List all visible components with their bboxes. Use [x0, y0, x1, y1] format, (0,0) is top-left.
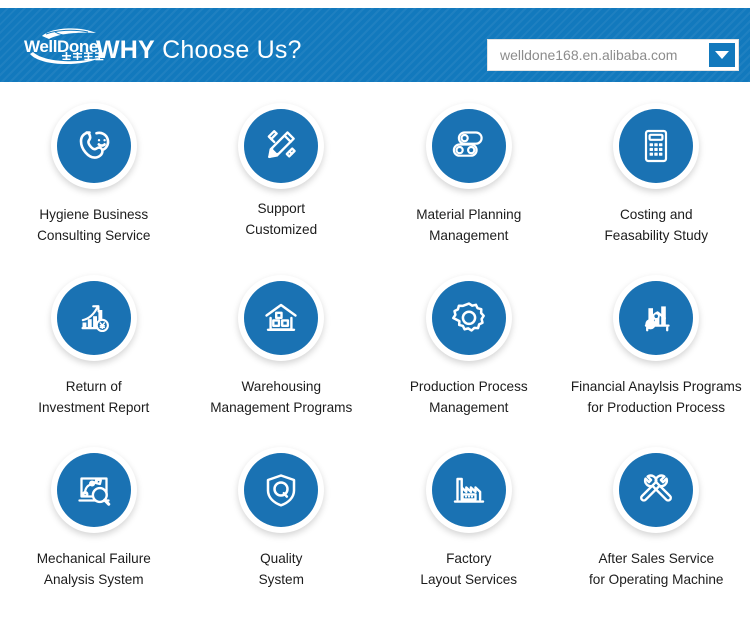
shield-q-icon: [259, 468, 303, 512]
service-label-line2: Investment Report: [38, 397, 149, 418]
why-choose-us-banner: WellDone WHY Choose Us? welldone168.en.a…: [0, 0, 750, 624]
service-label-line2: for Production Process: [571, 397, 742, 418]
service-label-line1: Return of: [66, 379, 122, 394]
service-label: Mechanical Failure Analysis System: [37, 548, 151, 590]
service-label-line2: Customized: [245, 219, 317, 240]
service-label-line1: Support: [257, 201, 305, 216]
service-label-line1: Financial Anaylsis Programs: [571, 379, 742, 394]
service-label: Hygiene Business Consulting Service: [37, 204, 150, 246]
service-label-line1: Hygiene Business: [39, 207, 148, 222]
robot-arm-magnifier-icon: [72, 468, 116, 512]
wrench-screwdriver-icon: [634, 468, 678, 512]
service-icon-badge: [51, 275, 137, 361]
service-item[interactable]: Costing and Feasability Study: [563, 90, 750, 262]
service-item[interactable]: After Sales Service for Operating Machin…: [563, 434, 750, 606]
service-label: Financial Anaylsis Programs for Producti…: [571, 376, 742, 418]
service-item[interactable]: Factory Layout Services: [375, 434, 563, 606]
header-bar: WellDone WHY Choose Us? welldone168.en.a…: [0, 8, 750, 82]
service-label: Support Customized: [245, 198, 317, 240]
service-item[interactable]: Warehousing Management Programs: [188, 262, 376, 434]
calculator-icon: [634, 124, 678, 168]
service-label-line1: Material Planning: [416, 207, 521, 222]
service-label-line1: After Sales Service: [598, 551, 714, 566]
service-icon-badge: [613, 103, 699, 189]
service-icon-badge: [51, 447, 137, 533]
service-label-line2: Management Programs: [210, 397, 352, 418]
services-grid: Hygiene Business Consulting Service: [0, 90, 750, 606]
service-label-line1: Production Process: [410, 379, 528, 394]
warehouse-boxes-icon: [259, 296, 303, 340]
service-item[interactable]: Quality System: [188, 434, 376, 606]
service-icon-badge: [426, 447, 512, 533]
service-label-line1: Factory: [446, 551, 491, 566]
service-label-line2: Analysis System: [37, 569, 151, 590]
chart-magnifier-icon: [634, 296, 678, 340]
service-label-line2: Feasability Study: [604, 225, 708, 246]
service-label: After Sales Service for Operating Machin…: [589, 548, 724, 590]
growth-chart-yen-icon: [72, 296, 116, 340]
service-label: Material Planning Management: [416, 204, 521, 246]
service-label-line1: Warehousing: [241, 379, 321, 394]
service-item[interactable]: Material Planning Management: [375, 90, 563, 262]
service-icon-badge: [613, 275, 699, 361]
page-title: WHY Choose Us?: [96, 36, 302, 64]
service-icon-badge: [51, 103, 137, 189]
service-item[interactable]: Return of Investment Report: [0, 262, 188, 434]
service-label-line2: System: [259, 569, 304, 590]
service-label-line2: for Operating Machine: [589, 569, 724, 590]
factory-icon: [447, 468, 491, 512]
service-label: Production Process Management: [410, 376, 528, 418]
pencil-ruler-icon: [259, 124, 303, 168]
headline-rest: Choose Us?: [155, 36, 302, 64]
service-label-line2: Layout Services: [420, 569, 517, 590]
website-url-field[interactable]: welldone168.en.alibaba.com: [487, 39, 739, 71]
service-item[interactable]: Hygiene Business Consulting Service: [0, 90, 188, 262]
service-label-line2: Consulting Service: [37, 225, 150, 246]
service-label: Factory Layout Services: [420, 548, 517, 590]
service-item[interactable]: Support Customized: [188, 90, 376, 262]
service-icon-badge: [238, 103, 324, 189]
phone-smile-icon: [72, 124, 116, 168]
service-label-line1: Quality: [260, 551, 302, 566]
stacked-pipes-icon: [447, 124, 491, 168]
service-item[interactable]: Financial Anaylsis Programs for Producti…: [563, 262, 750, 434]
service-item[interactable]: Mechanical Failure Analysis System: [0, 434, 188, 606]
chevron-down-icon[interactable]: [709, 43, 735, 67]
gear-icon: [447, 296, 491, 340]
service-label-line2: Management: [416, 225, 521, 246]
service-icon-badge: [613, 447, 699, 533]
service-label: Return of Investment Report: [38, 376, 149, 418]
service-item[interactable]: Production Process Management: [375, 262, 563, 434]
service-label: Quality System: [259, 548, 304, 590]
service-icon-badge: [238, 275, 324, 361]
service-label-line2: Management: [410, 397, 528, 418]
service-label-line1: Costing and: [620, 207, 693, 222]
service-label: Warehousing Management Programs: [210, 376, 352, 418]
website-url-value: welldone168.en.alibaba.com: [500, 40, 677, 70]
headline-why: WHY: [96, 36, 155, 64]
service-label: Costing and Feasability Study: [604, 204, 708, 246]
service-icon-badge: [426, 275, 512, 361]
service-label-line1: Mechanical Failure: [37, 551, 151, 566]
service-icon-badge: [426, 103, 512, 189]
service-icon-badge: [238, 447, 324, 533]
